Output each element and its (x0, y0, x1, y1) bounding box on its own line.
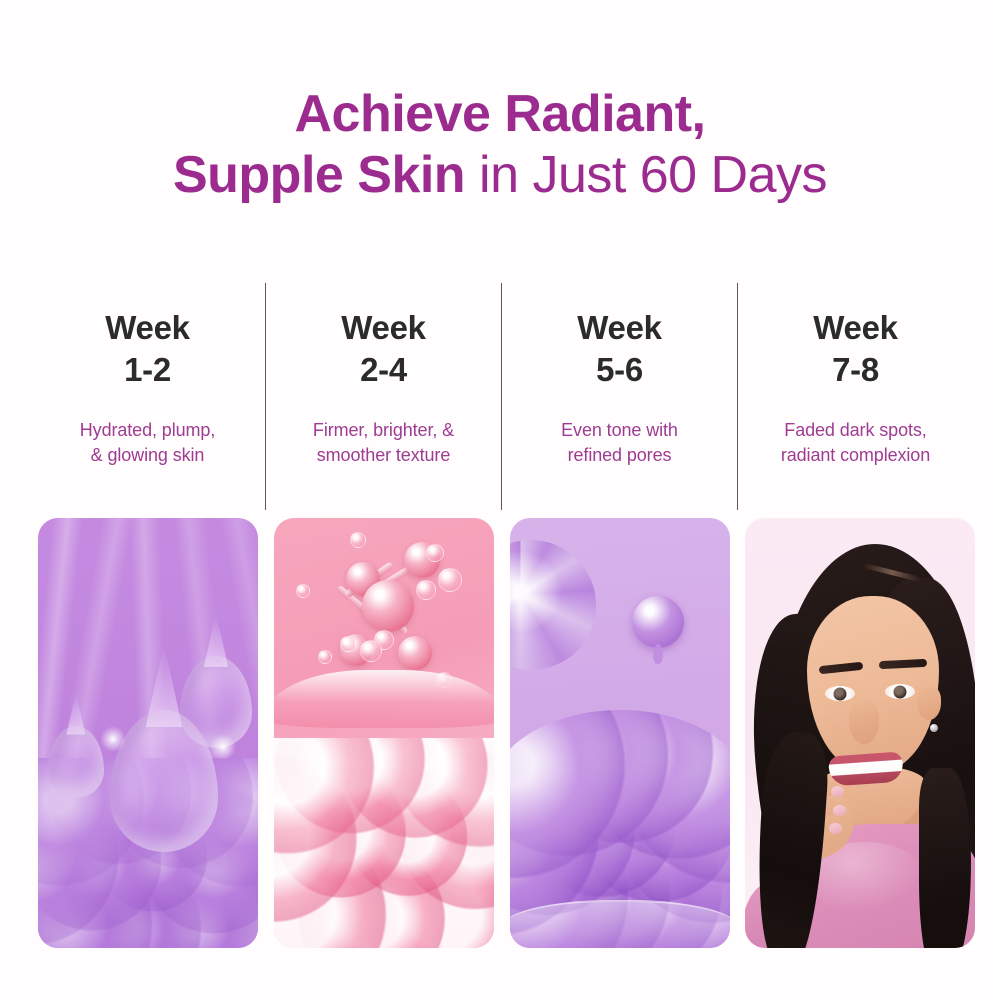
week-heading-3: Week 5-6 (502, 283, 737, 390)
week-description-3: Even tone withrefined pores (502, 390, 737, 468)
week-columns: Week 1-2 Hydrated, plump,& glowing skin … (0, 283, 1000, 1000)
week-image-card-3 (510, 518, 730, 948)
week-label-4: Week (813, 309, 897, 346)
bubble (350, 532, 366, 548)
week-image-card-4 (745, 518, 975, 948)
week-image-card-1 (38, 518, 258, 948)
pink-cell-texture (274, 738, 494, 948)
week-range-1: 1-2 (30, 349, 265, 391)
title-text-strong-2: Supple Skin (173, 146, 465, 204)
week-heading-4: Week 7-8 (738, 283, 973, 390)
week-description-2: Firmer, brighter, &smoother texture (266, 390, 501, 468)
week-heading-1: Week 1-2 (30, 283, 265, 390)
eye-left (825, 686, 855, 701)
week-column-2: Week 2-4 Firmer, brighter, &smoother tex… (266, 283, 501, 1000)
title-line-2: Supple Skin in Just 60 Days (0, 145, 1000, 206)
week-column-4: Week 7-8 Faded dark spots,radiant comple… (738, 283, 973, 1000)
sparkle-icon (210, 734, 236, 760)
week-column-1: Week 1-2 Hydrated, plump,& glowing skin (30, 283, 265, 1000)
fingernail (829, 823, 842, 834)
title-line-1: Achieve Radiant, (0, 84, 1000, 145)
week-range-3: 5-6 (502, 349, 737, 391)
week-range-4: 7-8 (738, 349, 973, 391)
bubble (318, 650, 332, 664)
bubble (426, 544, 444, 562)
nose (849, 700, 879, 744)
eye-right (885, 684, 915, 699)
week-column-3: Week 5-6 Even tone withrefined pores (502, 283, 737, 1000)
bubble (340, 636, 356, 652)
week-heading-2: Week 2-4 (266, 283, 501, 390)
week-description-4: Faded dark spots,radiant complexion (738, 390, 973, 468)
molecule-node (398, 636, 432, 670)
bubble (360, 640, 382, 662)
face (807, 596, 939, 772)
week-description-1: Hydrated, plump,& glowing skin (30, 390, 265, 468)
bubble (438, 568, 462, 592)
infographic-page: Achieve Radiant, Supple Skin in Just 60 … (0, 0, 1000, 1000)
bubble (416, 580, 436, 600)
serum-surface (274, 670, 494, 728)
title-text-strong-1: Achieve Radiant, (294, 85, 705, 143)
ear (917, 686, 941, 720)
fingernail (833, 805, 846, 816)
week-label-1: Week (105, 309, 189, 346)
bubble (296, 584, 310, 598)
week-image-card-2 (274, 518, 494, 948)
week-label-3: Week (577, 309, 661, 346)
sparkle-icon (100, 726, 126, 752)
earring (930, 724, 938, 732)
week-range-2: 2-4 (266, 349, 501, 391)
glass-base (510, 900, 730, 948)
fingernail (831, 786, 844, 797)
molecule-node-center (362, 580, 414, 632)
title-text-light: in Just 60 Days (465, 146, 827, 204)
page-title: Achieve Radiant, Supple Skin in Just 60 … (0, 84, 1000, 207)
floating-sphere (632, 596, 684, 648)
hair-side-strand (919, 768, 971, 948)
week-label-2: Week (341, 309, 425, 346)
